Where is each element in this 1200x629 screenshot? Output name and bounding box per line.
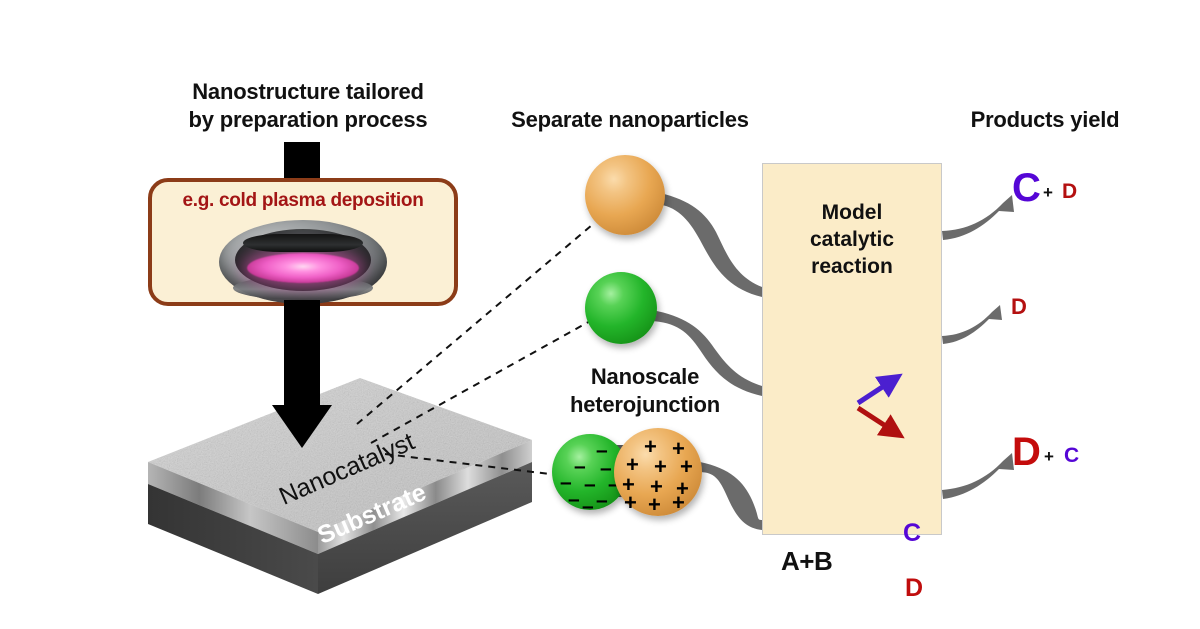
charge-minus: –: [596, 490, 608, 511]
charge-minus: –: [582, 496, 594, 517]
charge-minus: –: [584, 474, 596, 495]
reaction-product-c: C: [903, 519, 921, 548]
deposition-arrowhead: [272, 405, 332, 448]
flow-arrow-out-row1: [942, 195, 1014, 240]
flow-arrow-heterojunction-to-box: [698, 462, 762, 530]
reactor-lid: [243, 234, 363, 252]
flow-arrow-out-row2: [942, 305, 1002, 344]
product-row-2: D: [1011, 296, 1027, 319]
reactants-label: A+B: [781, 546, 832, 577]
product-plus-sign: +: [1043, 184, 1053, 201]
figure-canvas: Nanostructure tailored by preparation pr…: [0, 0, 1200, 629]
product-major-d: D: [1011, 294, 1027, 319]
charge-plus: +: [680, 456, 693, 478]
heading-separate-nanoparticles: Separate nanoparticles: [470, 106, 790, 134]
plasma-box-caption: e.g. cold plasma deposition: [152, 190, 454, 212]
charge-plus: +: [672, 492, 685, 514]
flow-arrow-out-row3: [942, 453, 1014, 499]
product-minor-c: C: [1064, 445, 1079, 466]
product-row-3: D + C: [1012, 432, 1041, 472]
product-row-1: C + D: [1012, 168, 1041, 208]
nanocatalyst-top-face: [148, 378, 532, 532]
heading-preparation: Nanostructure tailored by preparation pr…: [130, 78, 486, 134]
reaction-product-d: D: [905, 574, 923, 603]
nanoparticle-orange: [585, 155, 665, 235]
charge-minus: –: [568, 489, 580, 510]
flow-arrow-orange-to-box: [656, 193, 762, 297]
heading-products-yield: Products yield: [900, 106, 1190, 134]
deposition-arrow-shaft-bottom: [284, 300, 320, 410]
plasma-reactor-icon: [219, 220, 387, 304]
product-major-c: C: [1012, 166, 1041, 210]
preparation-method-box: e.g. cold plasma deposition: [148, 178, 458, 306]
reaction-box-title: Model catalytic reaction: [763, 199, 941, 280]
plasma-glow: [247, 253, 359, 283]
charge-plus: +: [624, 492, 637, 514]
charge-plus: +: [648, 494, 661, 516]
nanocatalyst-grain: [148, 378, 532, 532]
heterojunction-positive-sphere: + + + + + + + + + + +: [614, 428, 702, 516]
product-minor-d: D: [1062, 181, 1077, 202]
model-reaction-box: Model catalytic reaction A+B C D: [762, 163, 942, 535]
product-major-d: D: [1012, 430, 1041, 474]
heading-nanoscale-heterojunction: Nanoscale heterojunction: [530, 363, 760, 419]
product-plus-sign: +: [1044, 448, 1054, 465]
nanoparticle-green: [585, 272, 657, 344]
